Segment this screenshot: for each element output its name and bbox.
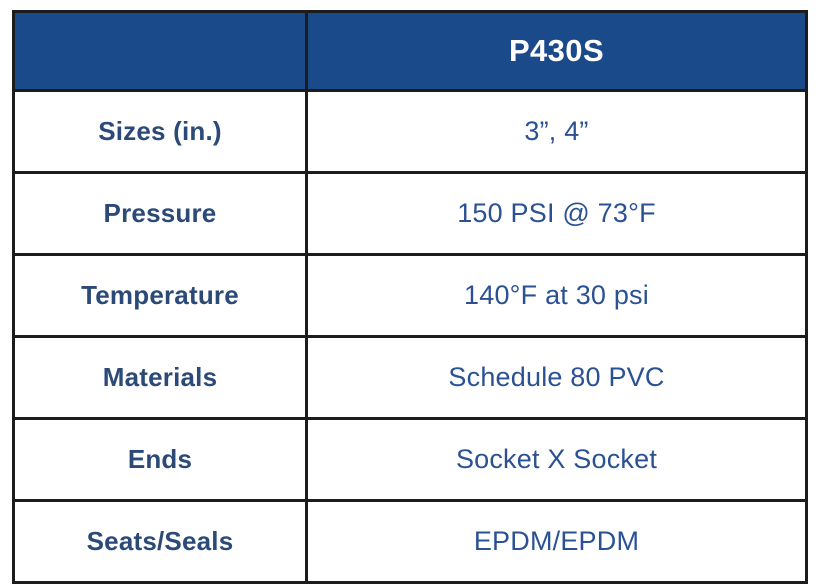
spec-label-text: Seats/Seals (21, 527, 299, 556)
specification-table: P430S Sizes (in.)3”, 4”Pressure150 PSI @… (12, 10, 808, 584)
table-header-row: P430S (14, 12, 807, 91)
table-row: MaterialsSchedule 80 PVC (14, 337, 807, 419)
spec-value-cell: 3”, 4” (307, 91, 807, 173)
spec-label-text: Materials (21, 363, 299, 392)
spec-value-text: 150 PSI @ 73°F (314, 199, 799, 229)
spec-label-text: Ends (21, 445, 299, 474)
spec-sheet: P430S Sizes (in.)3”, 4”Pressure150 PSI @… (0, 0, 817, 570)
spec-value-cell: Schedule 80 PVC (307, 337, 807, 419)
spec-label-text: Temperature (21, 281, 299, 310)
spec-value-cell: 140°F at 30 psi (307, 255, 807, 337)
spec-label-cell: Ends (14, 419, 307, 501)
table-row: Temperature140°F at 30 psi (14, 255, 807, 337)
spec-value-text: 3”, 4” (314, 117, 799, 147)
table-row: Seats/SealsEPDM/EPDM (14, 501, 807, 583)
table-body: Sizes (in.)3”, 4”Pressure150 PSI @ 73°FT… (14, 91, 807, 583)
header-cell-model: P430S (307, 12, 807, 91)
spec-label-text: Sizes (in.) (21, 117, 299, 146)
spec-value-text: Socket X Socket (314, 445, 799, 475)
spec-label-cell: Materials (14, 337, 307, 419)
table-row: Sizes (in.)3”, 4” (14, 91, 807, 173)
spec-value-text: EPDM/EPDM (314, 527, 799, 557)
table-header: P430S (14, 12, 807, 91)
spec-label-cell: Temperature (14, 255, 307, 337)
spec-value-cell: 150 PSI @ 73°F (307, 173, 807, 255)
spec-value-text: Schedule 80 PVC (314, 363, 799, 393)
header-model-label: P430S (314, 34, 799, 68)
spec-value-text: 140°F at 30 psi (314, 281, 799, 311)
spec-label-cell: Sizes (in.) (14, 91, 307, 173)
table-row: Pressure150 PSI @ 73°F (14, 173, 807, 255)
header-cell-blank (14, 12, 307, 91)
spec-label-cell: Pressure (14, 173, 307, 255)
spec-value-cell: Socket X Socket (307, 419, 807, 501)
table-row: EndsSocket X Socket (14, 419, 807, 501)
spec-value-cell: EPDM/EPDM (307, 501, 807, 583)
spec-label-cell: Seats/Seals (14, 501, 307, 583)
spec-label-text: Pressure (21, 199, 299, 228)
